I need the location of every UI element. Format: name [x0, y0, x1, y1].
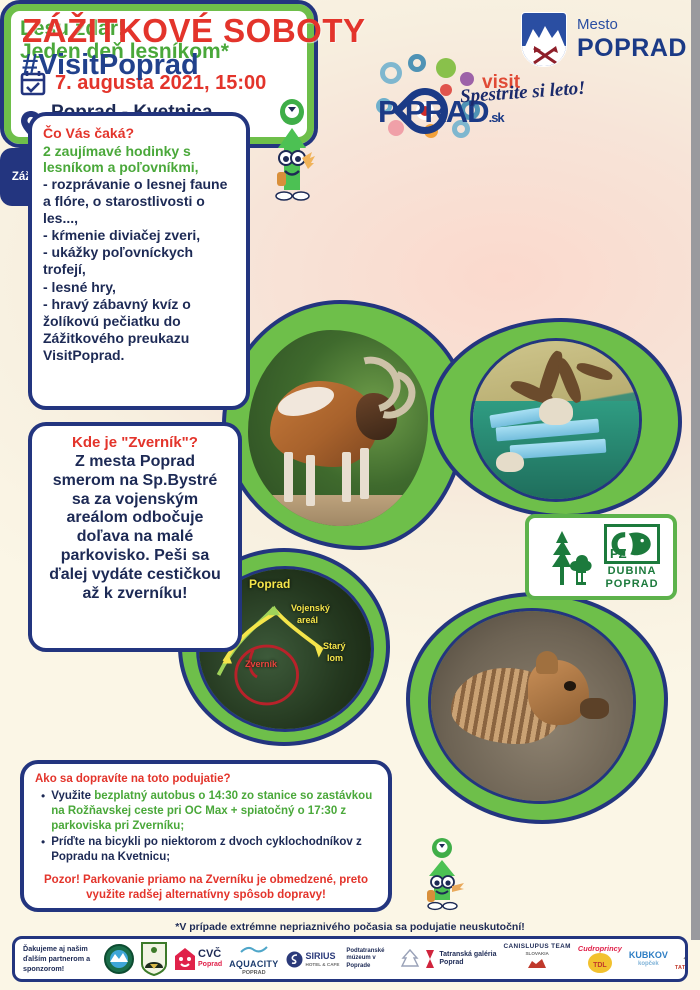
- kubkov-label: KUBKOV: [629, 950, 668, 961]
- visit-poprad-tld: .sk: [489, 110, 504, 125]
- transport-list-item: • Príďte na bicykli po niektorom z dvoch…: [41, 835, 377, 864]
- cvc-sub: Poprad: [198, 961, 222, 969]
- aquacity-label: AQUACITY: [229, 959, 278, 970]
- sponsor-logo-sirius: SIRIUS HOTEL & CAFE: [286, 940, 340, 978]
- tatraexpress-label: TATRA EXPRESS: [675, 965, 688, 971]
- canislupus-sub: SLOVAKIA: [503, 951, 570, 957]
- map-label-areal: areál: [297, 615, 318, 625]
- pz-name-line1: DUBINA: [608, 566, 657, 577]
- map-label-vojensky: Vojenský: [291, 603, 330, 613]
- poprad-label: POPRAD: [577, 34, 687, 63]
- galeria-sub: Poprad: [439, 959, 496, 967]
- poster-title-block: ZÁŽITKOVÉ SOBOTY #VisitPoprad: [22, 14, 422, 82]
- map-label-poprad: Poprad: [249, 577, 290, 591]
- what-awaits-item: - kŕmenie diviačej zveri,: [43, 227, 235, 244]
- pz-abbrev: PZ: [610, 547, 627, 560]
- what-awaits-lead: 2 zaujímavé hodinky s lesníkom a poľovní…: [43, 143, 235, 177]
- forest-tree-icon: [542, 527, 596, 587]
- what-awaits-item: - hravý zábavný kvíz o žolíkovú pečiatku…: [43, 296, 235, 364]
- map-label-stary: Starý: [323, 641, 346, 651]
- what-awaits-item: - ukážky poľovníckych trofejí,: [43, 244, 235, 278]
- what-awaits-heading: Čo Vás čaká?: [43, 125, 235, 143]
- sponsor-logo-kubkov-kopcek: KUBKOV kopček: [629, 940, 668, 978]
- mascot-character-top: [268, 98, 316, 220]
- photo-mouflon: [248, 330, 428, 526]
- sponsor-logo-tatry-circle: [104, 940, 134, 978]
- page-subtitle-hashtag: #VisitPoprad: [22, 50, 422, 82]
- aquacity-sub: POPRAD: [229, 970, 278, 977]
- transport-heading: Ako sa dopravíte na toto podujatie?: [35, 772, 377, 786]
- sponsor-logo-podtatranske-muzeum: Podtatranské múzeum v Poprade: [346, 940, 392, 978]
- sponsor-footer-bar: Ďakujeme aj našim ďalším partnerom a spo…: [12, 936, 688, 982]
- map-label-lom: lom: [327, 653, 343, 663]
- where-body-text: Z mesta Poprad smerom na Sp.Bystré sa za…: [42, 453, 228, 604]
- right-edge-strip: [691, 0, 700, 940]
- sirius-label: SIRIUS: [306, 951, 340, 962]
- mesto-poprad-logo: Mesto POPRAD: [521, 12, 691, 74]
- photo-wild-boar-piglets: [428, 608, 636, 804]
- poprad-coat-of-arms-icon: [521, 12, 567, 67]
- galeria-label: Tatranská galéria: [439, 951, 496, 959]
- what-awaits-item: - rozprávanie o lesnej faune a flóre, o …: [43, 176, 235, 227]
- mascot-character-bottom: [416, 838, 468, 916]
- poster-root: ZÁŽITKOVÉ SOBOTY #VisitPoprad P PRAD.sk …: [0, 0, 700, 990]
- sirius-sub: HOTEL & CAFE: [306, 962, 340, 968]
- cudroprincy-label: Cudroprincy: [578, 945, 622, 954]
- callout-what-awaits: Čo Vás čaká? 2 zaujímavé hodinky s lesní…: [28, 112, 250, 410]
- mesto-label: Mesto: [577, 16, 618, 33]
- sponsor-logo-cvc-poprad: CVČ Poprad: [174, 940, 222, 978]
- callout-transport-info: Ako sa dopravíte na toto podujatie? • Vy…: [20, 760, 392, 912]
- bullet-icon: •: [41, 789, 45, 833]
- muzeum-label: Podtatranské múzeum v Poprade: [346, 948, 392, 970]
- map-label-zvernik: Zverník: [245, 659, 277, 669]
- pz-dubina-poprad-logo: PZ DUBINA POPRAD: [525, 514, 677, 600]
- tdl-sub: TDL: [593, 962, 607, 969]
- page-title: ZÁŽITKOVÉ SOBOTY: [22, 14, 422, 48]
- photo-hunting-trophies: [470, 338, 642, 502]
- kopcek-sub: kopček: [629, 961, 668, 968]
- callout-where-is-zvernik: Kde je "Zverník"? Z mesta Poprad smerom …: [28, 422, 242, 652]
- transport-warning: Pozor! Parkovanie priamo na Zverníku je …: [35, 873, 377, 903]
- sponsor-logo-cudroprincy-tdl: Cudroprincy TDL: [578, 940, 622, 978]
- sponsor-logo-aquacity: AQUACITY POPRAD: [229, 940, 278, 978]
- transport-item-prefix: Využite: [51, 790, 94, 802]
- cvc-label: CVČ: [198, 948, 222, 961]
- weather-footnote: *V prípade extrémne nepriaznivého počasi…: [0, 921, 700, 933]
- where-heading: Kde je "Zverník"?: [42, 434, 228, 453]
- transport-item-highlight: bezplatný autobus o 14:30 zo stanice so …: [51, 790, 372, 831]
- what-awaits-item: - lesné hry,: [43, 279, 235, 296]
- sponsor-logo-canislupus-team: CANISLUPUS TEAM SLOVAKIA: [503, 940, 570, 978]
- bullet-icon: •: [41, 835, 45, 864]
- sponsor-logo-poprad-crest-green: [141, 940, 167, 978]
- sponsors-thanks-text: Ďakujeme aj našim ďalším partnerom a spo…: [23, 944, 97, 973]
- sponsor-logo-tatranska-galeria: Tatranská galéria Poprad: [399, 940, 496, 978]
- canislupus-label: CANISLUPUS TEAM: [503, 943, 570, 951]
- pz-emblem-icon: PZ: [604, 524, 660, 564]
- pz-name-line2: POPRAD: [605, 579, 658, 590]
- transport-list-item: • Využite bezplatný autobus o 14:30 zo s…: [41, 789, 377, 833]
- transport-item-prefix: Príďte na bicykli po niektorom z dvoch c…: [51, 835, 377, 864]
- sponsor-logo-tatra-express: TATRA EXPRESS: [675, 940, 688, 978]
